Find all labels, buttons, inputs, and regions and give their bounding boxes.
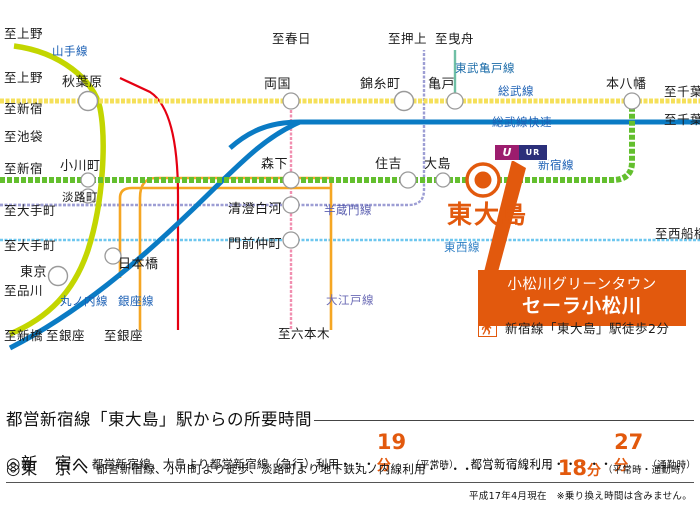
line-label-hanzomon: 半蔵門線 <box>324 205 372 217</box>
station-label-ojima: 大島 <box>424 158 451 171</box>
terminal-label-ikebukuro: 至池袋 <box>4 131 43 144</box>
terminal-label-chiba-2: 至千葉 <box>664 114 700 127</box>
walking-person-icon <box>478 318 497 337</box>
line-label-tobu-kameido: 東武亀戸線 <box>455 63 515 75</box>
terminal-label-chiba-1: 至千葉 <box>664 86 700 99</box>
table-row: ◎東 京へ 都営新宿線、小川町より徒歩、淡路町より地下鉄丸ノ内線利用・・・・・・… <box>6 455 696 479</box>
line-label-oedo: 大江戸線 <box>326 295 374 307</box>
terminal-label-ginza-2: 至銀座 <box>104 330 143 343</box>
ur-text: UR <box>519 145 547 160</box>
ur-badge: U UR <box>494 144 548 161</box>
station-marker-ryogoku <box>283 93 299 109</box>
station-label-ryogoku: 両国 <box>264 78 291 91</box>
access-map-page: 山手線 総武線 総武線快速 東武亀戸線 新宿線 半蔵門線 東西線 大江戸線 丸ノ… <box>0 0 700 525</box>
line-keihin-tohoku <box>10 122 300 348</box>
table-bottom-rule <box>6 482 694 483</box>
station-marker-higashi-ojima <box>467 164 499 196</box>
terminal-label-hikifune: 至曳舟 <box>435 33 474 46</box>
station-label-tokyo: 東京 <box>20 266 47 279</box>
station-marker-morishita <box>283 172 299 188</box>
route-map: 山手線 総武線 総武線快速 東武亀戸線 新宿線 半蔵門線 東西線 大江戸線 丸ノ… <box>0 0 700 390</box>
destination-tokyo: ◎東 京へ <box>6 455 96 479</box>
station-marker-monzennakacho <box>283 232 299 248</box>
station-marker-ojima <box>436 173 450 187</box>
station-marker-ogawamachi <box>81 173 95 187</box>
walk-access-row: 新宿線「東大島」駅徒歩2分 <box>478 318 669 337</box>
terminal-label-shimbashi: 至新橋 <box>4 330 43 343</box>
terminal-label-oshiage: 至押上 <box>388 33 427 46</box>
line-label-tozai: 東西線 <box>444 242 480 254</box>
line-ginza <box>140 178 331 330</box>
walking-person-glyph <box>481 321 494 335</box>
terminal-label-shinjuku-2: 至新宿 <box>4 163 43 176</box>
terminal-label-otemachi-1: 至大手町 <box>4 205 56 218</box>
line-label-marunouchi: 丸ノ内線 <box>60 296 108 308</box>
station-marker-kiyosumi <box>283 197 299 213</box>
station-label-kameido: 亀戸 <box>428 78 455 91</box>
terminal-label-roppongi: 至六本木 <box>278 328 330 341</box>
station-marker-akihabara <box>79 92 98 111</box>
line-label-shinjuku: 新宿線 <box>538 160 574 172</box>
terminal-label-shinjuku-1: 至新宿 <box>4 103 43 116</box>
table-footnote: 平成17年4月現在 ※乗り換え時間は含みません。 <box>469 488 692 502</box>
station-label-motohachiman: 本八幡 <box>606 78 647 91</box>
travel-time-title-row: 都営新宿線「東大島」駅からの所要時間 <box>6 406 694 430</box>
terminal-label-ueno-2: 至上野 <box>4 72 43 85</box>
station-label-awajicho: 淡路町 <box>62 192 98 204</box>
line-label-yamanote: 山手線 <box>52 46 88 58</box>
station-marker-motohachiman <box>624 93 640 109</box>
station-label-ogawamachi: 小川町 <box>60 160 101 173</box>
station-label-monzennakacho: 門前仲町 <box>228 238 282 251</box>
station-marker-tokyo <box>49 267 68 286</box>
station-marker-kinshicho <box>395 92 414 111</box>
ur-logo-icon: U <box>495 145 519 160</box>
station-label-kinshicho: 錦糸町 <box>360 78 401 91</box>
property-subtitle: 小松川グリーンタウン <box>488 276 676 294</box>
terminal-label-otemachi-2: 至大手町 <box>4 240 56 253</box>
terminal-label-kasuga: 至春日 <box>272 33 311 46</box>
line-label-ginza: 銀座線 <box>118 296 154 308</box>
travel-time-title: 都営新宿線「東大島」駅からの所要時間 <box>6 406 312 430</box>
line-label-sobu: 総武線 <box>498 86 534 98</box>
walk-access-text: 新宿線「東大島」駅徒歩2分 <box>505 318 669 337</box>
line-label-sobu-rapid: 総武線快速 <box>492 117 552 129</box>
terminal-label-nishi-funabashi: 至西船橋 <box>655 228 700 241</box>
station-label-akihabara: 秋葉原 <box>62 76 103 89</box>
station-label-kiyosumi: 清澄白河 <box>228 203 282 216</box>
condition-text: （平常時・通勤時） <box>603 462 690 479</box>
terminal-label-ueno-1: 至上野 <box>4 28 43 41</box>
row-body: 都営新宿線、小川町より徒歩、淡路町より地下鉄丸ノ内線利用・・・・・・・・・・・ … <box>96 458 696 479</box>
station-label-morishita: 森下 <box>261 158 288 171</box>
route-text: 都営新宿線、小川町より徒歩、淡路町より地下鉄丸ノ内線利用・・・・・・・・・・・ <box>96 461 556 479</box>
station-label-nihombashi: 日本橋 <box>118 258 159 271</box>
terminal-label-shinagawa: 至品川 <box>4 285 43 298</box>
station-label-sumiyoshi: 住吉 <box>375 158 402 171</box>
minutes-value: 18分 <box>556 458 603 479</box>
travel-time-table: 都営新宿線「東大島」駅からの所要時間 ◎新 宿へ 都営新宿線、大島より都営新宿線… <box>0 390 700 525</box>
property-name: セーラ小松川 <box>488 294 676 319</box>
highlight-station-label: 東大島 <box>447 202 528 227</box>
title-rule <box>314 420 694 421</box>
station-marker-sumiyoshi <box>400 172 416 188</box>
station-marker-kameido <box>447 93 463 109</box>
terminal-label-ginza-1: 至銀座 <box>46 330 85 343</box>
